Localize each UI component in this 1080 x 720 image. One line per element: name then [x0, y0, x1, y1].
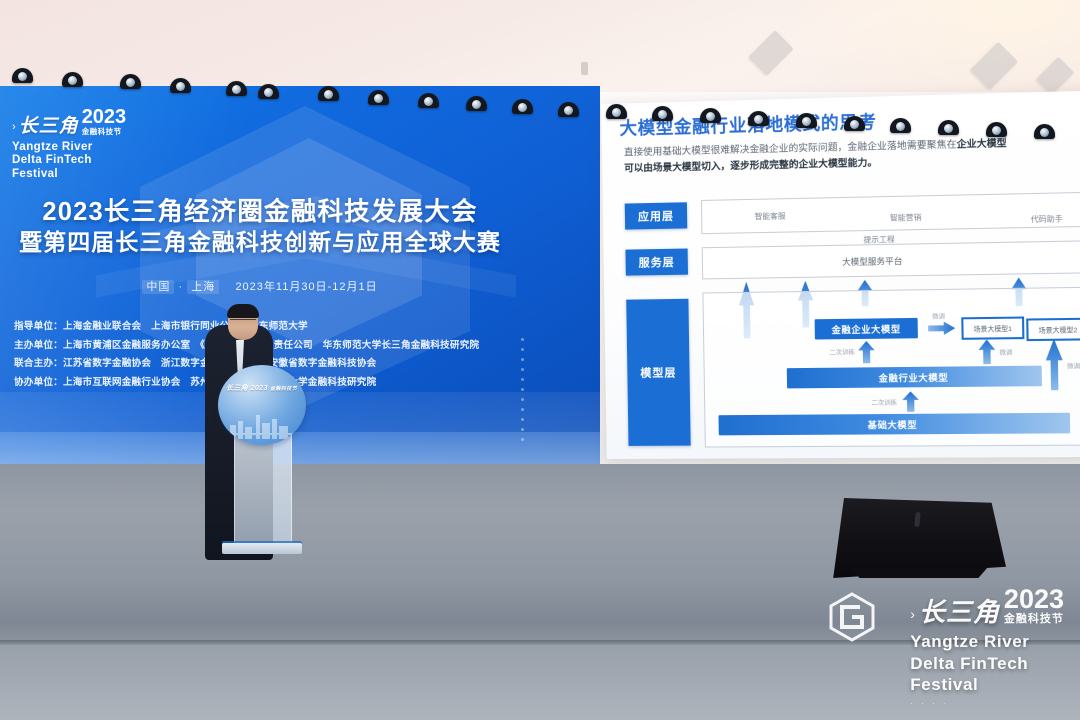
slide-body: 直接使用基础大模型很难解决金融企业的实际问题，金融企业落地需要聚焦在企业大模型 …	[624, 134, 1080, 178]
logo-en-line3: Festival	[12, 168, 162, 182]
stage-light	[890, 118, 911, 133]
stage-light	[652, 106, 673, 121]
stage-light	[120, 74, 141, 89]
stage-monitor-foot	[845, 568, 990, 578]
stage-monitor-speaker	[826, 498, 1006, 578]
watermark-arrow-icon: ›	[910, 607, 915, 625]
stage-light	[748, 111, 769, 126]
speaker-hair	[227, 304, 259, 318]
slide-annotation-tuning-a: 微调	[932, 311, 945, 320]
stage-light	[318, 86, 339, 101]
podium-logo-year: 2023	[251, 385, 268, 392]
headline-line-1: 2023长三角经济圈金融科技发展大会	[0, 196, 520, 228]
podium-emblem-logo: 长三角 2023 金融科技节	[226, 383, 298, 393]
headline-line-2: 暨第四届长三角金融科技创新与应用全球大赛	[0, 228, 520, 258]
event-headline: 2023长三角经济圈金融科技发展大会 暨第四届长三角金融科技创新与应用全球大赛	[0, 196, 520, 258]
watermark-en-line2: Delta FinTech	[910, 653, 1064, 674]
speaker-glasses	[230, 319, 256, 325]
festival-emblem-icon	[826, 591, 878, 643]
meta-date: 2023年11月30日-12月1日	[235, 281, 377, 293]
watermark-en-line3: Festival	[910, 674, 1064, 695]
sponsor-line: 主办单位：上海市黄浦区金融服务办公室 《金融时报》有限责任公司 华东师范大学长三…	[14, 337, 574, 356]
meta-country: 中国	[142, 280, 174, 294]
watermark-subtitle-cn: 金融科技节	[1004, 614, 1064, 625]
watermark-year: 2023	[1004, 587, 1064, 613]
stage-light	[170, 78, 191, 93]
slide-box-industry-model: 金融行业大模型	[787, 366, 1042, 389]
event-meta: 中国 · 上海 2023年11月30日-12月1日	[0, 278, 520, 294]
stage-light	[258, 84, 279, 99]
stage-light	[986, 122, 1007, 137]
podium-emblem-disc: 长三角 2023 金融科技节	[218, 365, 306, 445]
slide-layer-label-model: 模型层	[626, 299, 690, 446]
logo-year: 2023	[82, 108, 127, 127]
slide-cell-application-2: 智能营销	[854, 211, 958, 224]
slide-body-line-1-bold: 企业大模型	[957, 138, 1007, 150]
slide-body-line-2: 可以由场景大模型切入，逐步形成完整的企业大模型能力。	[624, 158, 877, 175]
stage-light	[844, 116, 865, 131]
wall-fixture	[581, 62, 588, 75]
stage-light	[368, 90, 389, 105]
slide-box-foundation-model: 基础大模型	[718, 413, 1070, 436]
watermark-en-line1: Yangtze River	[910, 631, 1064, 652]
slide-layer-label-service: 服务层	[625, 249, 688, 276]
stage-light	[938, 120, 959, 135]
podium-skyline-graphic	[226, 409, 298, 439]
stage-light	[700, 108, 721, 123]
slide-layer-label-application: 应用层	[625, 202, 688, 229]
slide-box-scene-model-1: 场景大模型1	[961, 316, 1024, 339]
watermark-logo: › 长三角 2023 金融科技节 Yangtze River Delta Fin…	[910, 587, 1064, 708]
stage-light	[466, 96, 487, 111]
slide-annotation-second-training-a: 二次训练	[829, 347, 855, 356]
logo-subtitle-cn: 金融科技节	[82, 128, 122, 136]
logo-en-line2: Delta FinTech	[12, 154, 162, 168]
stage-light	[606, 104, 627, 119]
festival-logo: › 长三角 2023 金融科技节 Yangtze River Delta Fin…	[12, 108, 162, 181]
slide-box-enterprise-model: 金融企业大模型	[815, 318, 918, 340]
watermark-title-cn: 长三角	[919, 599, 1000, 625]
slide-box-scene-model-2: 场景大模型2	[1026, 318, 1080, 341]
conference-stage-photo: › 长三角 2023 金融科技节 Yangtze River Delta Fin…	[0, 0, 1080, 720]
slide-cell-application-1: 智能客服	[719, 210, 821, 223]
meta-separator: ·	[178, 281, 183, 293]
podium-logo-cn: 长三角	[226, 385, 248, 392]
logo-arrow-icon: ›	[12, 122, 16, 136]
stage-light	[418, 93, 439, 108]
presentation-slide: 大模型金融行业落地模式的思考 直接使用基础大模型很难解决金融企业的实际问题，金融…	[601, 91, 1080, 459]
meta-city: 上海	[187, 280, 219, 294]
stage-light	[796, 113, 817, 128]
slide-cell-application-3: 代码助手	[1010, 213, 1080, 226]
slide-annotation-tuning-c: 微调	[1067, 361, 1080, 370]
slide-annotation-tuning-b: 微调	[999, 347, 1012, 356]
slide-body-line-1: 直接使用基础大模型很难解决金融企业的实际问题，金融企业落地需要聚焦在	[624, 139, 957, 158]
slide-annotation-second-training-b: 二次训练	[871, 398, 897, 407]
stage-light	[1034, 124, 1055, 139]
stage-light	[12, 68, 33, 83]
podium-logo-sub: 金融科技节	[270, 386, 297, 392]
logo-en-line1: Yangtze River	[12, 141, 162, 155]
podium-base	[222, 543, 302, 554]
podium: 长三角 2023 金融科技节	[218, 365, 306, 560]
stage-light	[62, 72, 83, 87]
logo-title-cn: 长三角	[19, 117, 79, 136]
sponsor-line: 指导单位：上海金融业联合会 上海市银行同业公会 华东师范大学	[14, 318, 574, 337]
stage-light	[558, 102, 579, 117]
stage-light	[512, 99, 533, 114]
watermark-dots: · · · ·	[910, 699, 1064, 708]
slide-cell-service-platform: 大模型服务平台	[805, 254, 939, 268]
stage-light	[226, 81, 247, 96]
